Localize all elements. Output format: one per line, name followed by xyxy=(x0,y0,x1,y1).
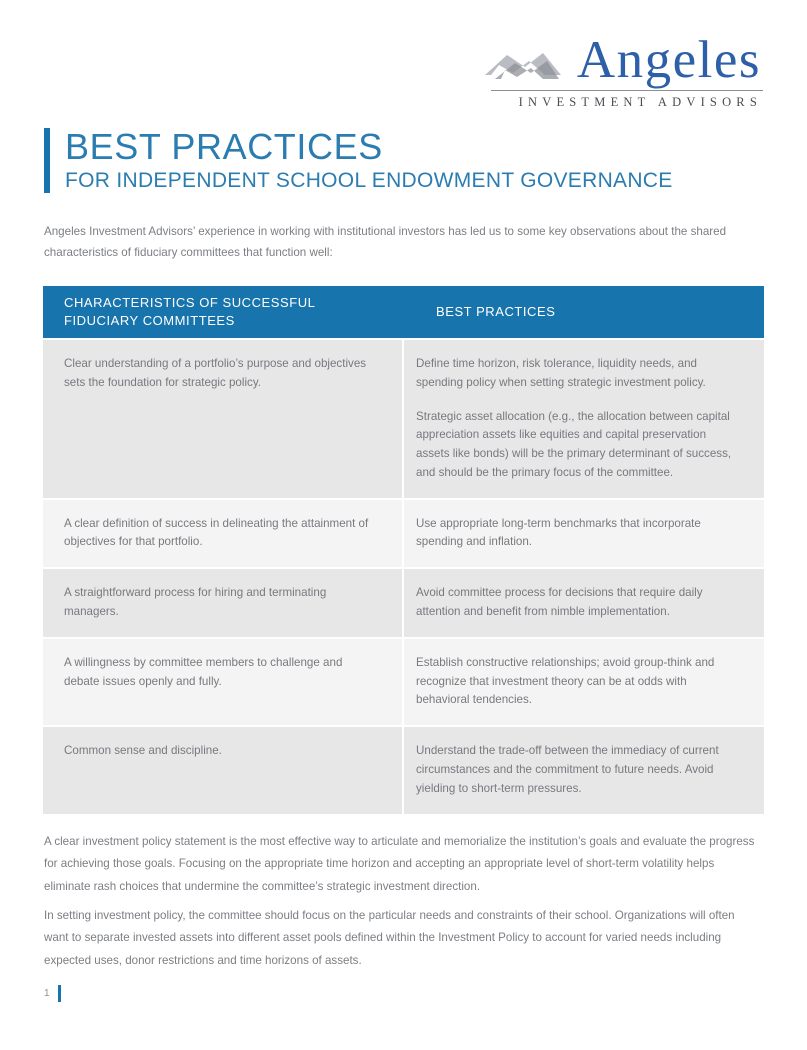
page-footer: 1 xyxy=(44,985,61,1002)
body-paragraph-1: A clear investment policy statement is t… xyxy=(44,831,762,898)
logo-wordmark-wrap: Angeles xyxy=(463,34,763,87)
table-cell-characteristic: A straightforward process for hiring and… xyxy=(43,569,402,637)
table-row: Common sense and discipline. Understand … xyxy=(43,727,764,813)
practice-text: Avoid committee process for decisions th… xyxy=(416,584,742,622)
page-title: BEST PRACTICES xyxy=(65,128,673,167)
practice-text: Define time horizon, risk tolerance, liq… xyxy=(416,355,742,393)
intro-paragraph: Angeles Investment Advisors’ experience … xyxy=(44,221,734,264)
table-cell-characteristic: A willingness by committee members to ch… xyxy=(43,639,402,725)
table-header-row: CHARACTERISTICS OF SUCCESSFUL FIDUCIARY … xyxy=(43,286,764,338)
title-accent-bar xyxy=(44,128,50,193)
table-cell-practice: Use appropriate long-term benchmarks tha… xyxy=(404,500,764,568)
page-title-block: BEST PRACTICES FOR INDEPENDENT SCHOOL EN… xyxy=(44,128,673,193)
table-cell-practice: Understand the trade-off between the imm… xyxy=(404,727,764,813)
table-header-characteristics: CHARACTERISTICS OF SUCCESSFUL FIDUCIARY … xyxy=(43,294,424,331)
footer-accent-bar xyxy=(58,985,61,1002)
characteristic-text: A straightforward process for hiring and… xyxy=(64,584,374,622)
table-row: Clear understanding of a portfolio’s pur… xyxy=(43,340,764,498)
page-number: 1 xyxy=(44,988,50,999)
table-header-characteristics-line2: FIDUCIARY COMMITTEES xyxy=(64,312,424,330)
table-header-characteristics-line1: CHARACTERISTICS OF SUCCESSFUL xyxy=(64,294,424,312)
wing-mountain-icon xyxy=(485,42,561,78)
table-cell-characteristic: Clear understanding of a portfolio’s pur… xyxy=(43,340,402,498)
characteristic-text: A willingness by committee members to ch… xyxy=(64,654,374,692)
table-cell-characteristic: Common sense and discipline. xyxy=(43,727,402,813)
logo-divider xyxy=(491,90,763,91)
logo-wordmark: Angeles xyxy=(577,31,761,89)
table-row: A straightforward process for hiring and… xyxy=(43,569,764,637)
table-header-best-practices: BEST PRACTICES xyxy=(424,303,764,321)
practice-text: Understand the trade-off between the imm… xyxy=(416,742,742,798)
table-cell-practice: Establish constructive relationships; av… xyxy=(404,639,764,725)
logo-tagline: INVESTMENT ADVISORS xyxy=(463,95,763,110)
practice-text-2: Strategic asset allocation (e.g., the al… xyxy=(416,408,742,483)
page-subtitle: FOR INDEPENDENT SCHOOL ENDOWMENT GOVERNA… xyxy=(65,169,673,193)
table-cell-characteristic: A clear definition of success in delinea… xyxy=(43,500,402,568)
document-page: Angeles INVESTMENT ADVISORS BEST PRACTIC… xyxy=(0,0,807,1050)
characteristic-text: Clear understanding of a portfolio’s pur… xyxy=(64,355,374,393)
characteristic-text: A clear definition of success in delinea… xyxy=(64,515,374,553)
company-logo: Angeles INVESTMENT ADVISORS xyxy=(463,34,763,110)
table-row: A clear definition of success in delinea… xyxy=(43,500,764,568)
best-practices-table: CHARACTERISTICS OF SUCCESSFUL FIDUCIARY … xyxy=(43,286,764,814)
table-row: A willingness by committee members to ch… xyxy=(43,639,764,725)
table-cell-practice: Define time horizon, risk tolerance, liq… xyxy=(404,340,764,498)
characteristic-text: Common sense and discipline. xyxy=(64,742,374,761)
practice-text: Use appropriate long-term benchmarks tha… xyxy=(416,515,742,553)
title-text-group: BEST PRACTICES FOR INDEPENDENT SCHOOL EN… xyxy=(65,128,673,193)
table-cell-practice: Avoid committee process for decisions th… xyxy=(404,569,764,637)
practice-text: Establish constructive relationships; av… xyxy=(416,654,742,710)
body-paragraph-2: In setting investment policy, the commit… xyxy=(44,905,762,972)
